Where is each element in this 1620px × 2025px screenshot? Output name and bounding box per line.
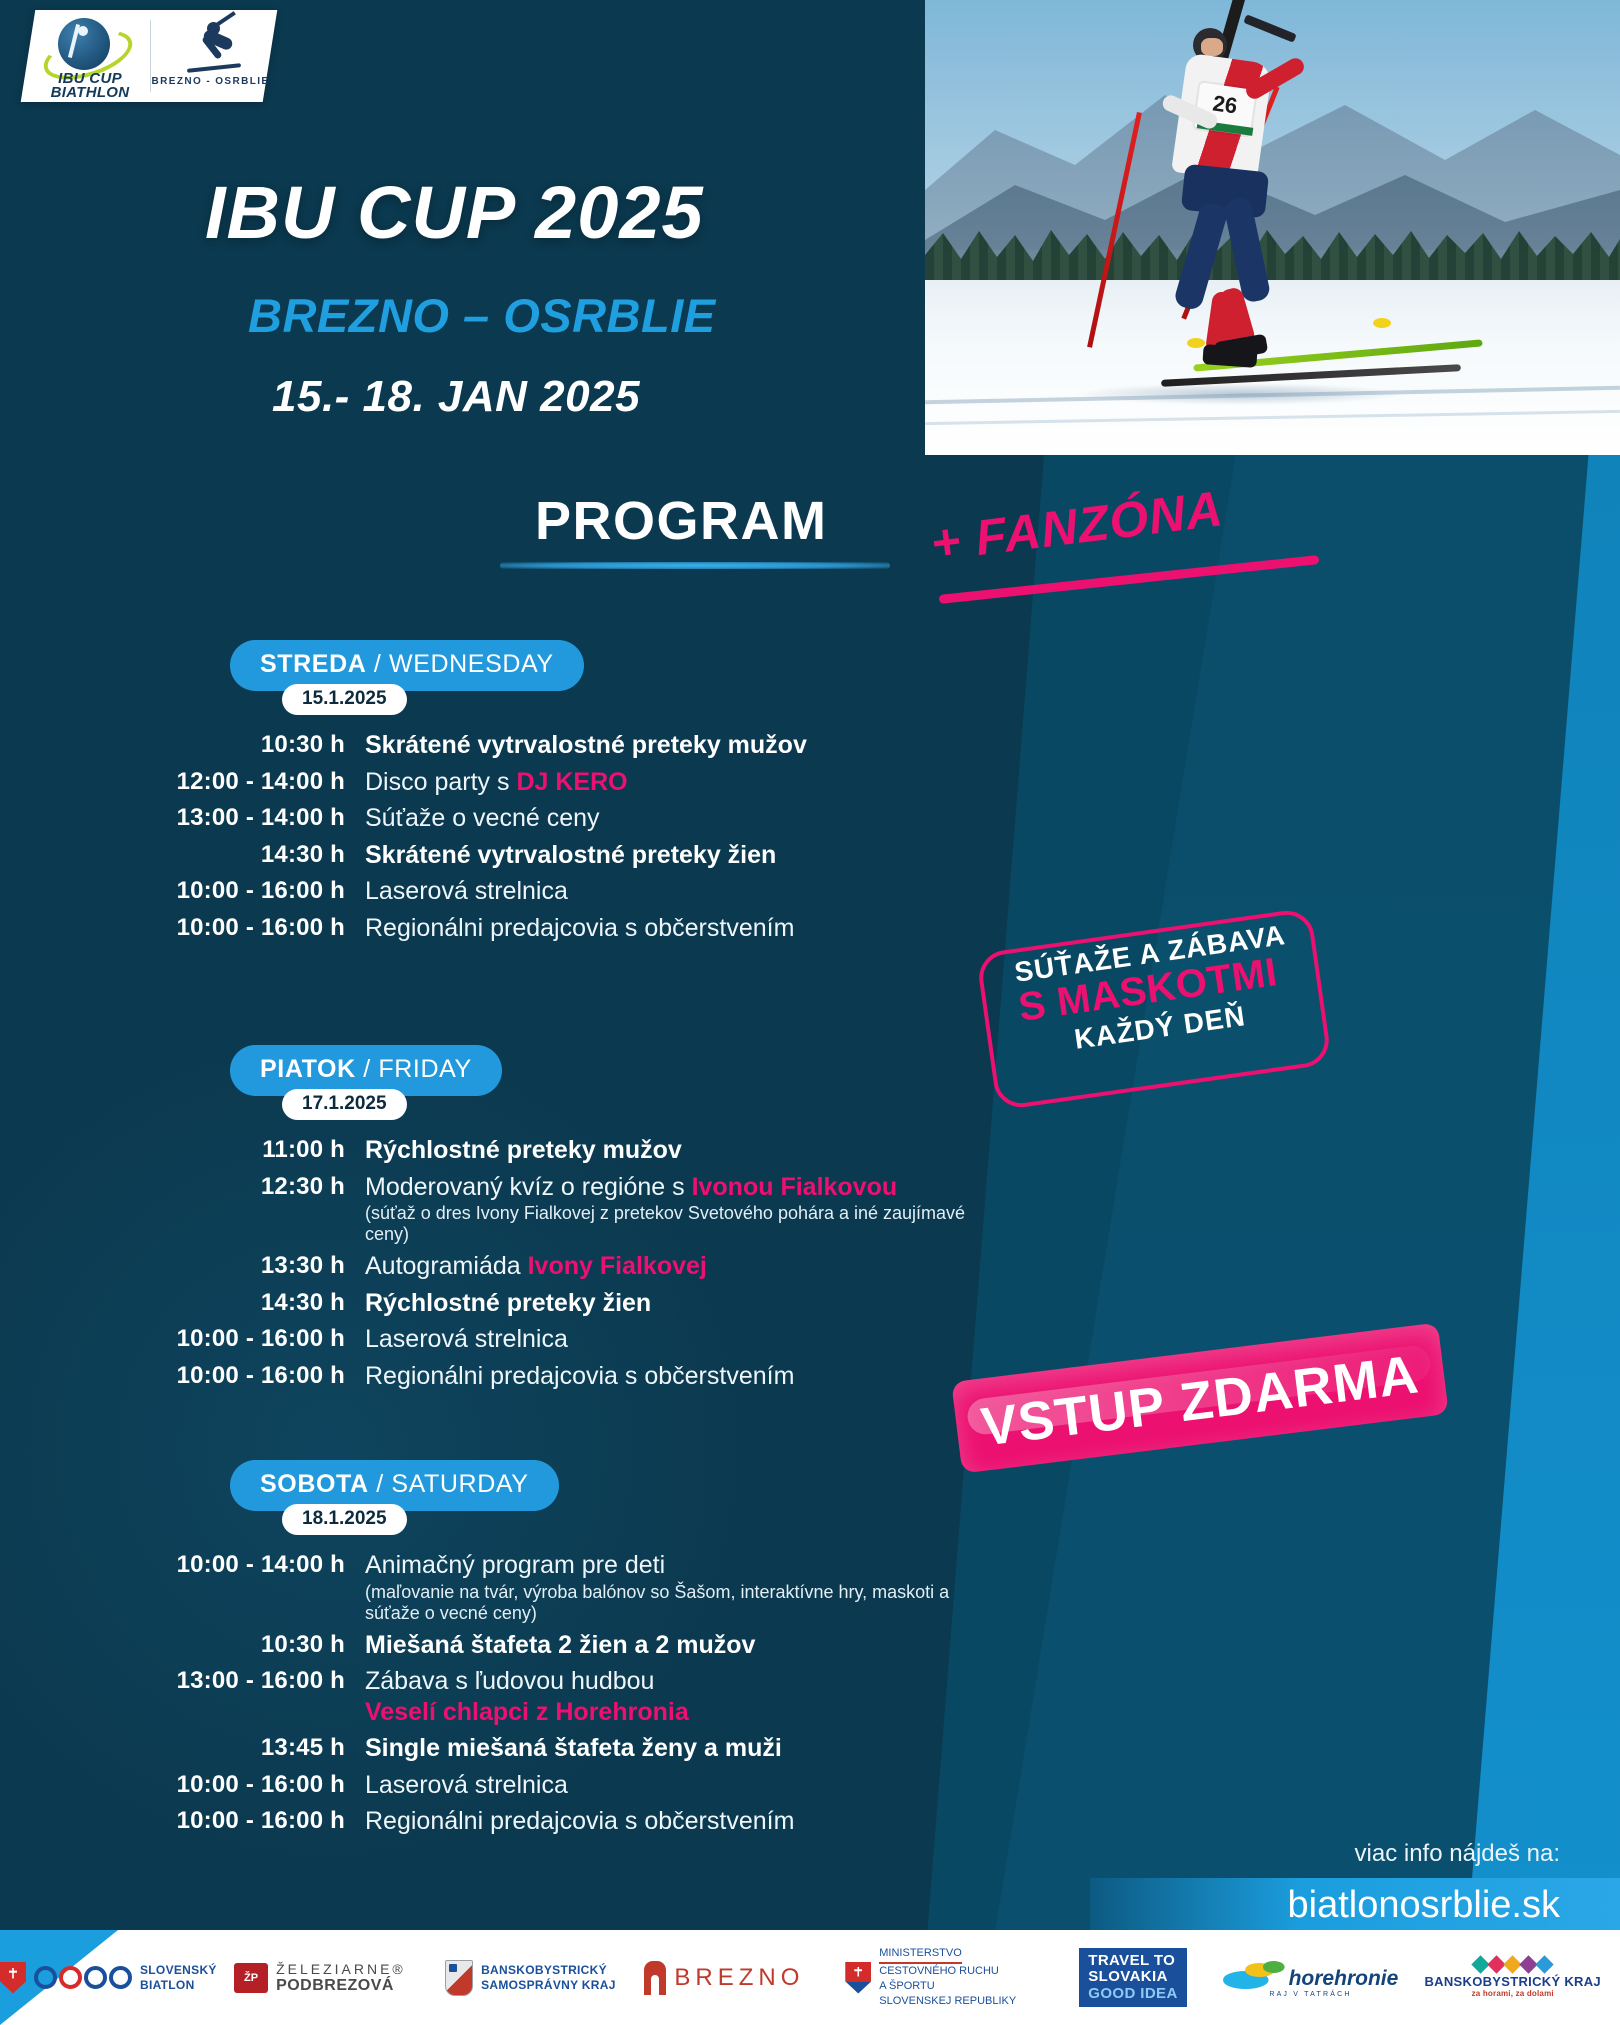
schedule-row: 13:00 - 14:00 hSúťaže o vecné ceny: [0, 804, 1000, 834]
schedule-time: 12:30 h: [0, 1173, 365, 1201]
schedule-time: 12:00 - 14:00 h: [0, 768, 365, 796]
schedule-description: Moderovaný kvíz o regióne s Ivonou Fialk…: [365, 1173, 1000, 1246]
day-section-wednesday: STREDA / WEDNESDAY15.1.202510:30 hSkráte…: [0, 640, 1000, 950]
day-name-en: / FRIDAY: [356, 1055, 472, 1083]
schedule-row: 10:00 - 16:00 hLaserová strelnica: [0, 1771, 1000, 1801]
athlete-face: [1201, 38, 1223, 56]
schedule-description: Rýchlostné preteky mužov: [365, 1136, 682, 1166]
poster-dates: 15.- 18. JAN 2025: [272, 372, 640, 422]
schedule-highlight: Ivony Fialkovej: [528, 1252, 707, 1280]
sponsor-footer: SLOVENSKÝBIATLON ŽP ŽELEZIARNE® PODBREZO…: [0, 1930, 1620, 2025]
day-name-sk: SOBOTA: [260, 1470, 369, 1498]
schedule-description: Animačný program pre deti(maľovanie na t…: [365, 1551, 1000, 1624]
venue-logo: BREZNO - OSRBLIE: [151, 10, 270, 102]
sponsor-ministerstvo: MINISTERSTVO CESTOVNÉHO RUCHU A ŠPORTU S…: [811, 1946, 1050, 2008]
day-name-sk: PIATOK: [260, 1055, 356, 1083]
schedule-row: 10:00 - 16:00 hRegionálni predajcovia s …: [0, 1807, 1000, 1837]
schedule-time: 10:00 - 16:00 h: [0, 1325, 365, 1353]
schedule-time: 10:00 - 16:00 h: [0, 1771, 365, 1799]
day-section-saturday: SOBOTA / SATURDAY18.1.202510:00 - 14:00 …: [0, 1460, 1000, 1844]
day-date-pill: 17.1.2025: [282, 1089, 407, 1120]
schedule-time: 10:30 h: [0, 1631, 365, 1659]
schedule-time: 10:00 - 16:00 h: [0, 877, 365, 905]
more-info-label: viac info nájdeš na:: [1355, 1840, 1560, 1868]
schedule-description: Regionálni predajcovia s občerstvením: [365, 1362, 794, 1392]
schedule-time: 13:00 - 16:00 h: [0, 1667, 365, 1695]
event-logo-block: IBU CUP BIATHLON BREZNO - OSRBLIE: [21, 10, 278, 102]
schedule-description: Skrátené vytrvalostné preteky mužov: [365, 731, 807, 761]
day-name-en: / WEDNESDAY: [366, 650, 553, 678]
schedule-row: 10:00 - 16:00 hRegionálni predajcovia s …: [0, 1362, 1000, 1392]
schedule-highlight: Ivonou Fialkovou: [692, 1173, 898, 1201]
slovak-coat-of-arms-icon: [845, 1962, 871, 1994]
day-date-pill: 15.1.2025: [282, 684, 407, 715]
schedule-time: 14:30 h: [0, 1289, 365, 1317]
schedule-note: (maľovanie na tvár, výroba balónov so Ša…: [365, 1582, 1000, 1624]
horehronie-wave-icon: [1223, 1957, 1285, 1991]
schedule-row: 10:00 - 14:00 hAnimačný program pre deti…: [0, 1551, 1000, 1624]
sponsor-label: ŽELEZIARNE® PODBREZOVÁ: [276, 1961, 406, 1995]
schedule-description: Miešaná štafeta 2 žien a 2 mužov: [365, 1631, 755, 1661]
day-pill-wednesday: STREDA / WEDNESDAY: [230, 640, 584, 691]
logo-biathlon-text: BIATHLON: [36, 84, 144, 101]
schedule-highlight: DJ KERO: [516, 768, 627, 796]
biathlon-rings-icon: [34, 1966, 132, 1989]
schedule-description: Regionálni predajcovia s občerstvením: [365, 914, 794, 944]
schedule-note: (súťaž o dres Ivony Fialkovej z pretekov…: [365, 1203, 1000, 1245]
pole-basket-left: [1187, 338, 1205, 348]
schedule-description: Laserová strelnica: [365, 1771, 568, 1801]
sponsor-label: horehronie: [1289, 1967, 1399, 1991]
program-heading: PROGRAM: [535, 490, 828, 552]
sponsor-banskobystricky-kraj: BANSKOBYSTRICKÝ KRAJ za horami, za dolam…: [1405, 1958, 1620, 1998]
schedule-description: Súťaže o vecné ceny: [365, 804, 600, 834]
schedule-row: 10:00 - 16:00 hLaserová strelnica: [0, 877, 1000, 907]
day-name-en: / SATURDAY: [369, 1470, 529, 1498]
schedule-description: Laserová strelnica: [365, 1325, 568, 1355]
schedule-row: 13:45 hSingle miešaná štafeta ženy a muž…: [0, 1734, 1000, 1764]
schedule-time: 14:30 h: [0, 841, 365, 869]
poster-root: 26 IBU CUP BIATHLON: [0, 0, 1620, 2025]
sponsor-label: BANSKOBYSTRICKÝSAMOSPRÁVNY KRAJ: [481, 1963, 616, 1991]
poster-title: IBU CUP 2025: [205, 170, 704, 255]
schedule-row: 14:30 hSkrátené vytrvalostné preteky žie…: [0, 841, 1000, 871]
day-schedule-rows: 11:00 hRýchlostné preteky mužov12:30 hMo…: [0, 1136, 1000, 1391]
day-section-friday: PIATOK / FRIDAY17.1.202511:00 hRýchlostn…: [0, 1045, 1000, 1398]
schedule-row: 10:30 hSkrátené vytrvalostné preteky muž…: [0, 731, 1000, 761]
schedule-time: 10:30 h: [0, 731, 365, 759]
schedule-row: 11:00 hRýchlostné preteky mužov: [0, 1136, 1000, 1166]
ibu-cup-biathlon-logo: IBU CUP BIATHLON: [28, 10, 150, 102]
schedule-row: 12:00 - 14:00 hDisco party s DJ KERO: [0, 768, 1000, 798]
brezno-tower-icon: [644, 1961, 666, 1995]
schedule-description: Autogramiáda Ivony Fialkovej: [365, 1252, 707, 1282]
sponsor-zeleziarne-podbrezova: ŽP ŽELEZIARNE® PODBREZOVÁ: [217, 1961, 423, 1995]
schedule-row: 14:30 hRýchlostné preteky žien: [0, 1289, 1000, 1319]
website-url[interactable]: biatlonosrblie.sk: [1288, 1884, 1560, 1927]
schedule-description: Rýchlostné preteky žien: [365, 1289, 651, 1319]
hero-athlete-shadow: [1075, 383, 1405, 405]
schedule-subtitle-highlight: Veselí chlapci z Horehronia: [365, 1698, 689, 1728]
poster-subtitle-venue: BREZNO – OSRBLIE: [248, 288, 716, 343]
sponsor-label: TRAVEL TO SLOVAKIA GOOD IDEA: [1079, 1948, 1186, 2007]
bbk-diamonds-icon: [1474, 1958, 1551, 1971]
sponsor-label: SLOVENSKÝBIATLON: [140, 1963, 217, 1991]
schedule-time: 13:30 h: [0, 1252, 365, 1280]
day-schedule-rows: 10:00 - 14:00 hAnimačný program pre deti…: [0, 1551, 1000, 1837]
schedule-description: Disco party s DJ KERO: [365, 768, 628, 798]
sponsor-label: BREZNO: [674, 1964, 804, 1992]
schedule-row: 13:30 hAutogramiáda Ivony Fialkovej: [0, 1252, 1000, 1282]
day-date-pill: 18.1.2025: [282, 1504, 407, 1535]
schedule-time: 11:00 h: [0, 1136, 365, 1164]
schedule-description: Skrátené vytrvalostné preteky žien: [365, 841, 776, 871]
schedule-time: 10:00 - 16:00 h: [0, 1807, 365, 1835]
sponsor-tagline: RAJ V TATRÁCH: [1269, 1991, 1351, 1998]
schedule-row: 12:30 hModerovaný kvíz o regióne s Ivono…: [0, 1173, 1000, 1246]
biathlete-pictogram-icon: [185, 20, 241, 72]
schedule-time: 13:00 - 14:00 h: [0, 804, 365, 832]
venue-logo-text: BREZNO - OSRBLIE: [151, 76, 270, 87]
zp-mark-icon: ŽP: [234, 1963, 268, 1993]
pole-basket-right: [1373, 318, 1391, 328]
sponsor-brezno: BREZNO: [638, 1961, 811, 1995]
schedule-time: 10:00 - 16:00 h: [0, 1362, 365, 1390]
schedule-row: 13:00 - 16:00 hZábava s ľudovou hudbouVe…: [0, 1667, 1000, 1727]
schedule-description: Regionálni predajcovia s občerstvením: [365, 1807, 794, 1837]
schedule-row: 10:00 - 16:00 hLaserová strelnica: [0, 1325, 1000, 1355]
sponsor-tagline: za horami, za dolami: [1472, 1989, 1554, 1998]
sponsor-travel-to-slovakia: TRAVEL TO SLOVAKIA GOOD IDEA: [1050, 1948, 1215, 2007]
bbsk-crest-icon: [445, 1960, 473, 1996]
sponsor-bb-samospravny-kraj: BANSKOBYSTRICKÝSAMOSPRÁVNY KRAJ: [423, 1960, 638, 1996]
day-schedule-rows: 10:30 hSkrátené vytrvalostné preteky muž…: [0, 731, 1000, 943]
sponsor-label: MINISTERSTVO CESTOVNÉHO RUCHU A ŠPORTU S…: [879, 1946, 1016, 2008]
schedule-description: Single miešaná štafeta ženy a muži: [365, 1734, 782, 1764]
schedule-row: 10:30 hMiešaná štafeta 2 žien a 2 mužov: [0, 1631, 1000, 1661]
sponsor-label: BANSKOBYSTRICKÝ KRAJ: [1424, 1974, 1600, 1989]
program-underline: [500, 562, 890, 569]
slovak-shield-icon: [0, 1962, 26, 1994]
sponsor-horehronie: horehronie RAJ V TATRÁCH: [1216, 1957, 1406, 1998]
day-name-sk: STREDA: [260, 650, 366, 678]
schedule-description: Laserová strelnica: [365, 877, 568, 907]
schedule-time: 13:45 h: [0, 1734, 365, 1762]
schedule-description: Zábava s ľudovou hudbouVeselí chlapci z …: [365, 1667, 689, 1727]
sponsor-slovensky-biatlon: SLOVENSKÝBIATLON: [0, 1962, 217, 1994]
schedule-time: 10:00 - 14:00 h: [0, 1551, 365, 1579]
schedule-row: 10:00 - 16:00 hRegionálni predajcovia s …: [0, 914, 1000, 944]
schedule-time: 10:00 - 16:00 h: [0, 914, 365, 942]
hero-photo-biathlete: 26: [925, 0, 1620, 455]
hero-snow-field: [925, 280, 1620, 455]
